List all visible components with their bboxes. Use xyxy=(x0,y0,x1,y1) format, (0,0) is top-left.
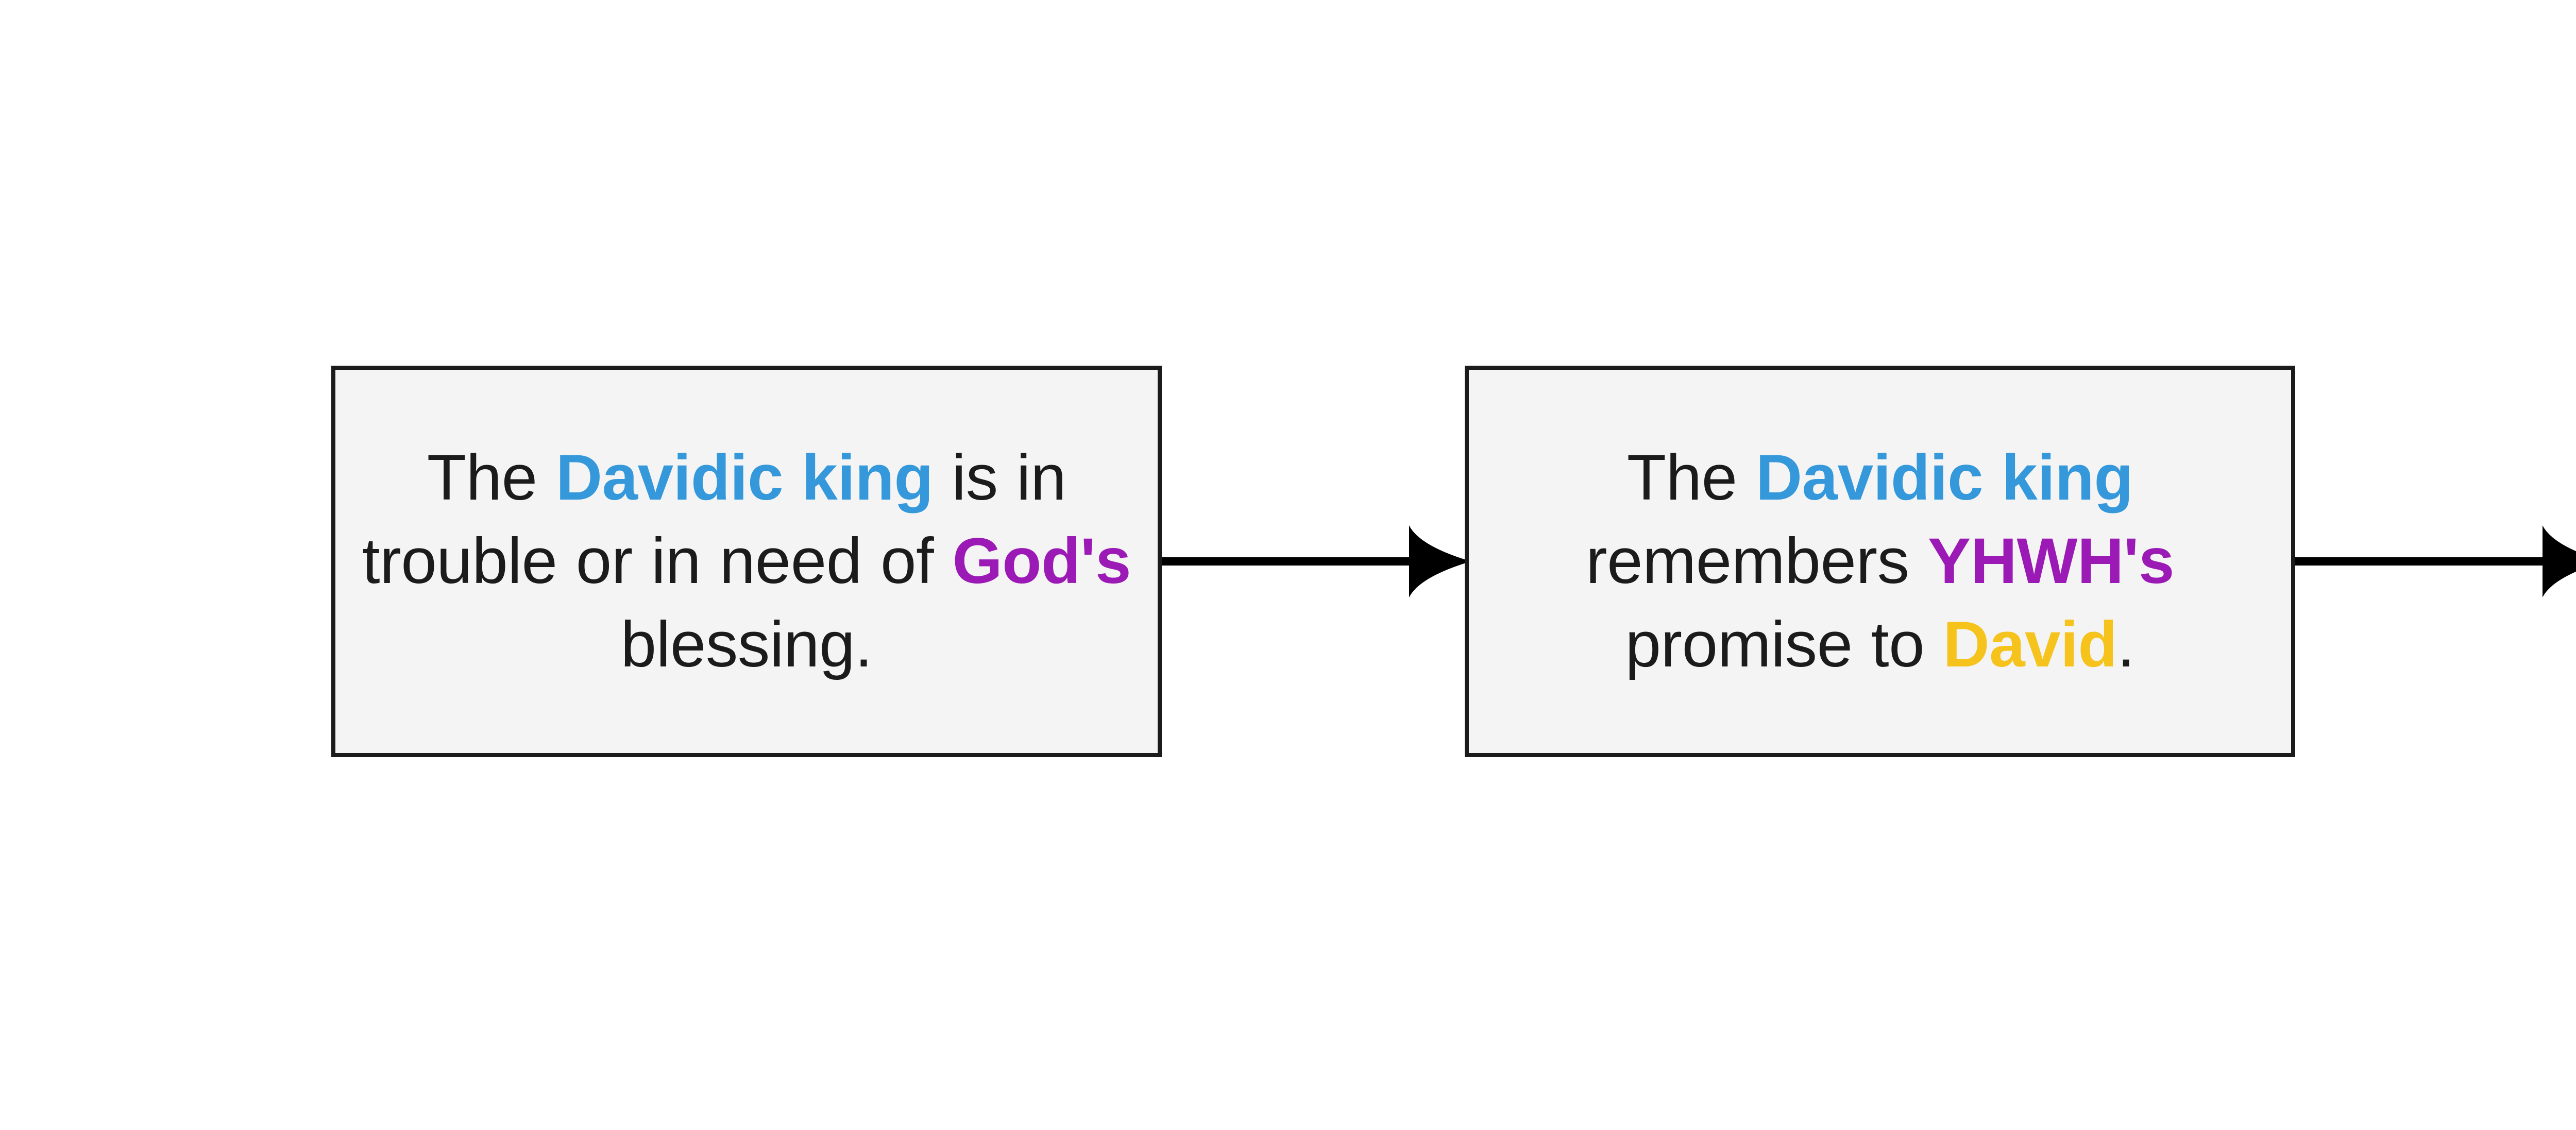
arrow-right-icon xyxy=(2295,525,2576,597)
flow-box-1-text: The Davidic king is introuble or in need… xyxy=(349,436,1144,687)
flow-arrow-2 xyxy=(2295,525,2576,597)
keyword-david: David xyxy=(1943,609,2117,680)
flow-diagram-canvas: The Davidic king is introuble or in need… xyxy=(0,0,2576,1130)
flow-arrow-1 xyxy=(1162,525,1471,597)
keyword-king: Davidic king xyxy=(1756,442,2133,513)
flow-box-2[interactable]: The Davidic kingremembers YHWH'spromise … xyxy=(1465,366,2295,757)
flow-box-text-line: promise to David. xyxy=(1482,603,2278,687)
keyword-yhwh: God's xyxy=(952,525,1131,597)
flow-box-text-line: The Davidic king is in xyxy=(349,436,1144,520)
flow-box-text-line: The Davidic king xyxy=(1482,436,2278,520)
flow-box-1[interactable]: The Davidic king is introuble or in need… xyxy=(331,366,1162,757)
keyword-king: Davidic king xyxy=(556,442,933,513)
flow-box-text-line: remembers YHWH's xyxy=(1482,520,2278,603)
flow-box-text-line: blessing. xyxy=(349,603,1144,687)
flow-box-2-text: The Davidic kingremembers YHWH'spromise … xyxy=(1482,436,2278,687)
keyword-yhwh: YHWH's xyxy=(1928,525,2174,597)
arrow-right-icon xyxy=(1162,525,1471,597)
flow-box-text-line: trouble or in need of God's xyxy=(349,520,1144,603)
